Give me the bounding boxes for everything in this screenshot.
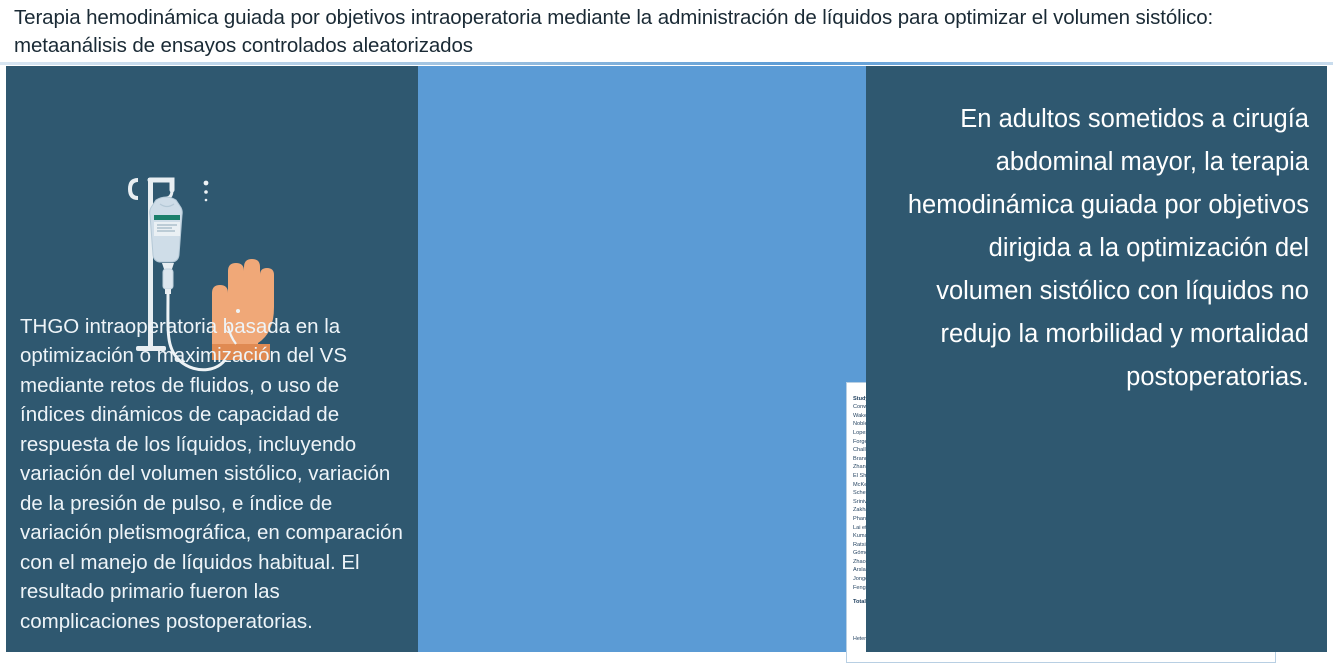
page-title: Terapia hemodinámica guiada por objetivo… (14, 4, 1324, 60)
right-panel-body: En adultos sometidos a cirugía abdominal… (892, 98, 1309, 399)
left-panel: THGO intraoperatoria basada en la optimi… (6, 66, 418, 652)
panel-container: THGO intraoperatoria basada en la optimi… (0, 66, 1333, 652)
left-panel-body: THGO intraoperatoria basada en la optimi… (20, 312, 404, 637)
middle-panel: 29 ECAs GDHT Control Risk Ratio (418, 66, 866, 652)
right-panel: En adultos sometidos a cirugía abdominal… (866, 66, 1327, 652)
title-divider (0, 62, 1333, 65)
slide: Terapia hemodinámica guiada por objetivo… (0, 0, 1333, 652)
